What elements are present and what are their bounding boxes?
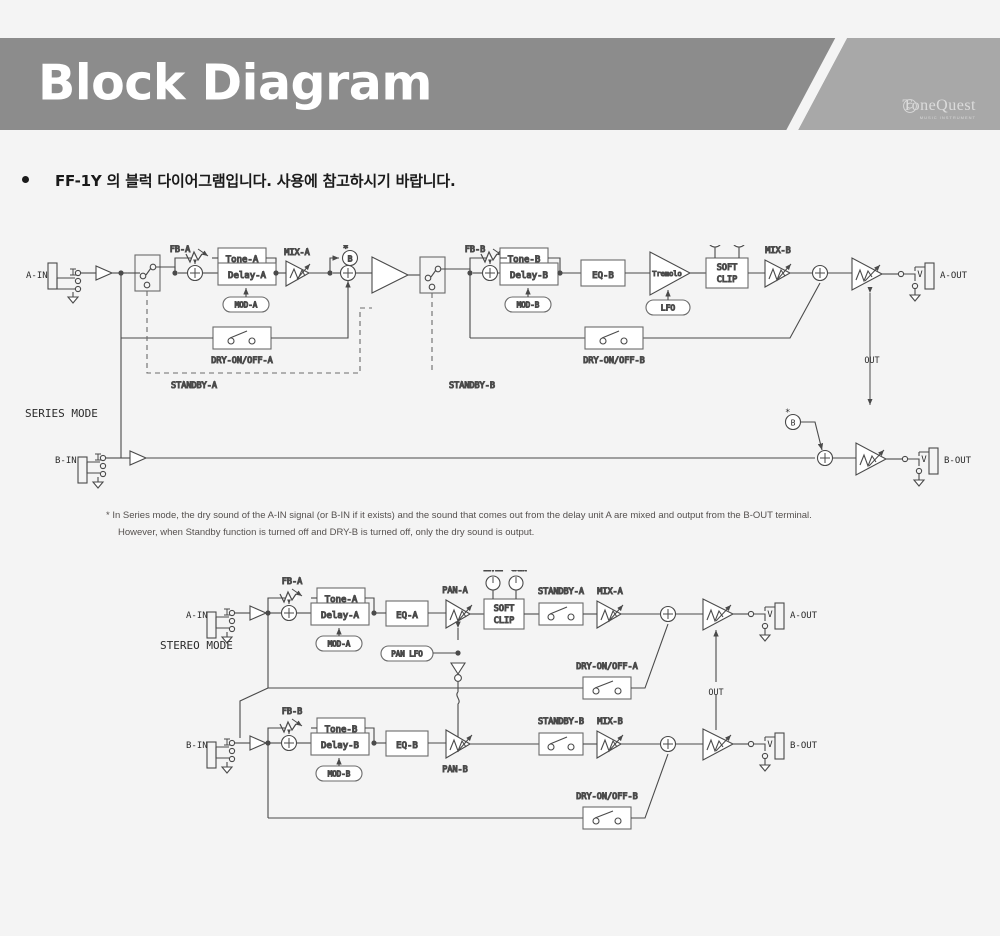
label-pan-b-stereo: PAN-B [442,765,468,775]
label-gain-a: GAIN [511,570,527,573]
label-a-out-stereo: A-OUT [790,611,818,621]
block-eq-b: EQ-B [592,271,614,281]
block-soft-clip-line2: CLIP [717,275,737,285]
block-mod-b-stereo: MOD-B [328,770,351,779]
node-b-label: B [348,255,353,264]
label-fb-b-stereo: FB-B [282,707,302,717]
footnote-line-2: However, when Standby function is turned… [106,525,966,542]
label-v-aout: V [917,270,923,280]
block-mod-b: MOD-B [517,301,540,310]
label-pan-b: (PAN-B) [651,245,689,246]
bullet-icon [22,176,29,183]
stereo-mode-title: STEREO MODE [160,639,233,652]
label-dry-on-off-a: DRY-ON/OFF-A [211,356,272,366]
label-v-bout-stereo: V [767,740,773,750]
page-header: Block Diagram ToneQuest MUSIC INSTRUMENT [0,38,1000,130]
label-mix-a: MIX-A [284,248,310,258]
block-soft-clip-line1: SOFT [717,263,737,273]
label-dry-on-off-b: DRY-ON/OFF-B [583,356,644,366]
footnote: * In Series mode, the dry sound of the A… [106,508,966,541]
block-soft-clip-a-l1: SOFT [494,604,514,614]
block-delay-a-stereo: Delay-A [321,611,360,621]
brand-logo: ToneQuest MUSIC INSTRUMENT [902,98,976,120]
block-soft-clip-a-l2: CLIP [494,616,514,626]
block-mod-a-stereo: MOD-A [328,640,351,649]
label-level-a: LEVEL [483,570,503,573]
label-v-bout: V [921,455,927,465]
label-fb-b: FB-B [465,245,485,255]
label-mix-b-stereo: MIX-B [597,717,623,727]
footnote-line-1: * In Series mode, the dry sound of the A… [106,508,966,525]
block-lfo: LFO [661,304,676,313]
page-title: Block Diagram [38,54,432,111]
series-mode-diagram: FB-A Tone-A Delay-A MOD-A MIX-A B * [0,245,1000,505]
block-mod-a: MOD-A [235,301,258,310]
label-standby-a: STANDBY-A [171,381,217,391]
block-eq-a: EQ-A [396,611,418,621]
label-b-out-stereo: B-OUT [790,741,818,751]
block-pan-lfo: PAN LFO [391,650,423,659]
label-mix-b: MIX-B [765,246,791,256]
block-delay-a: Delay-A [228,271,267,281]
label-b-in-stereo: B-IN [186,741,208,751]
label-mix-a-stereo: MIX-A [597,587,623,597]
label-out: OUT [864,356,879,366]
intro-text: FF-1Y 의 블럭 다이어그램입니다. 사용에 참고하시기 바랍니다. [55,170,456,191]
block-delay-b-stereo: Delay-B [321,741,359,751]
label-v-aout-stereo: V [767,610,773,620]
block-delay-b: Delay-B [510,271,548,281]
label-standby-b-stereo: STANDBY-B [538,717,584,727]
block-tremolo: Tremolo [652,270,682,278]
series-mode-title: SERIES MODE [25,407,98,420]
label-b-in-series: B-IN [55,456,77,466]
asterisk-1: * [343,245,348,254]
stereo-mode-diagram: FB-A Tone-A Delay-A MOD-A EQ-A PAN-A PAN… [0,570,1000,860]
label-pan-a: PAN-A [442,586,468,596]
block-eq-b-stereo: EQ-B [396,741,418,751]
node-b-label-2: B [791,419,796,428]
logo-tagline: MUSIC INSTRUMENT [902,115,976,120]
label-b-out: B-OUT [944,456,972,466]
label-dry-b-stereo: DRY-ON/OFF-B [576,792,637,802]
label-a-in-series: A-IN [26,271,48,281]
intro-bullet-row: FF-1Y 의 블럭 다이어그램입니다. 사용에 참고하시기 바랍니다. [22,170,456,191]
label-fb-a-stereo: FB-A [282,577,302,587]
label-standby-a-stereo: STANDBY-A [538,587,584,597]
asterisk-2: * [785,408,790,418]
swirl-icon [902,98,918,114]
label-a-out: A-OUT [940,271,968,281]
label-a-in-stereo: A-IN [186,611,208,621]
label-standby-b: STANDBY-B [449,381,495,391]
label-dry-a-stereo: DRY-ON/OFF-A [576,662,637,672]
label-fb-a: FB-A [170,245,190,255]
